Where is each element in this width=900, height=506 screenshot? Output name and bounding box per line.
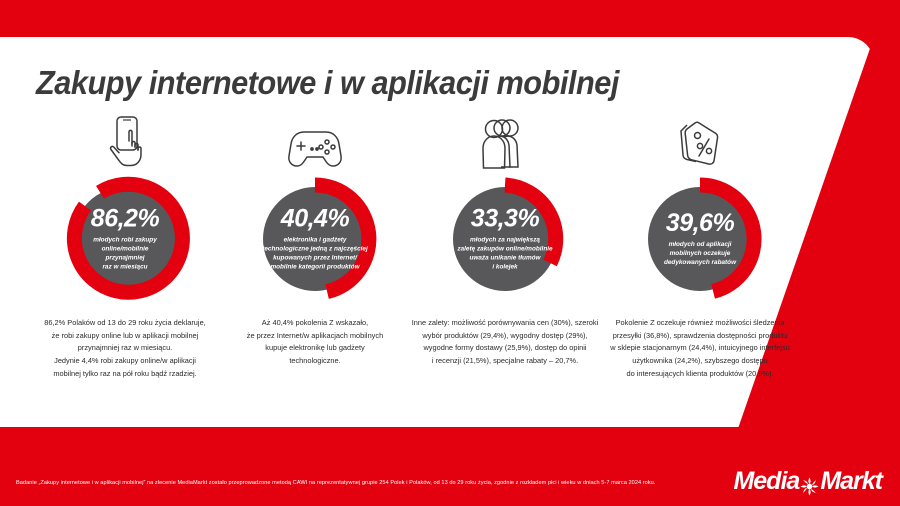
stat-column: 86,2% młodych robi zakupy online/mobilni… (25, 109, 225, 381)
donut-chart: 33,3% młodych za największą zaletę zakup… (405, 173, 605, 305)
discount-price-tags-icon (600, 109, 800, 171)
hand-tapping-smartphone-icon (25, 109, 225, 171)
donut-chart: 40,4% elektronika i gadżety technologicz… (215, 173, 415, 305)
logo-markt-text: Markt (820, 467, 882, 496)
stat-caption: Inne zalety: możliwość porównywania cen … (405, 317, 605, 368)
stat-column: 33,3% młodych za największą zaletę zakup… (405, 109, 605, 368)
stat-caption: Aż 40,4% pokolenia Z wskazało, że przez … (215, 317, 415, 368)
game-controller-icon (215, 109, 415, 171)
mediamarkt-logo: Media (733, 467, 882, 496)
logo-media-text: Media (733, 467, 799, 496)
stat-caption: Pokolenie Z oczekuje również możliwości … (600, 317, 800, 381)
page-title: Zakupy internetowe i w aplikacji mobilne… (36, 64, 619, 102)
donut-svg (59, 173, 191, 305)
donut-svg (249, 173, 381, 305)
footer-bar: Badanie „Zakupy internetowe i w aplikacj… (0, 464, 900, 506)
donut-svg (439, 173, 571, 305)
panel-content: Zakupy internetowe i w aplikacji mobilne… (0, 37, 900, 427)
sunburst-icon (800, 474, 819, 493)
donut-chart: 86,2% młodych robi zakupy online/mobilni… (25, 173, 225, 305)
stat-caption: 86,2% Polaków od 13 do 29 roku życia dek… (25, 317, 225, 381)
infographic-root: Zakupy internetowe i w aplikacji mobilne… (0, 0, 900, 506)
donut-svg (634, 173, 766, 305)
stat-column: 40,4% elektronika i gadżety technologicz… (215, 109, 415, 368)
methodology-note: Badanie „Zakupy internetowe i w aplikacj… (16, 480, 655, 486)
donut-chart: 39,6% młodych od aplikacji mobilnych ocz… (600, 173, 800, 305)
group-of-people-icon (405, 109, 605, 171)
stat-column: 39,6% młodych od aplikacji mobilnych ocz… (600, 109, 800, 381)
